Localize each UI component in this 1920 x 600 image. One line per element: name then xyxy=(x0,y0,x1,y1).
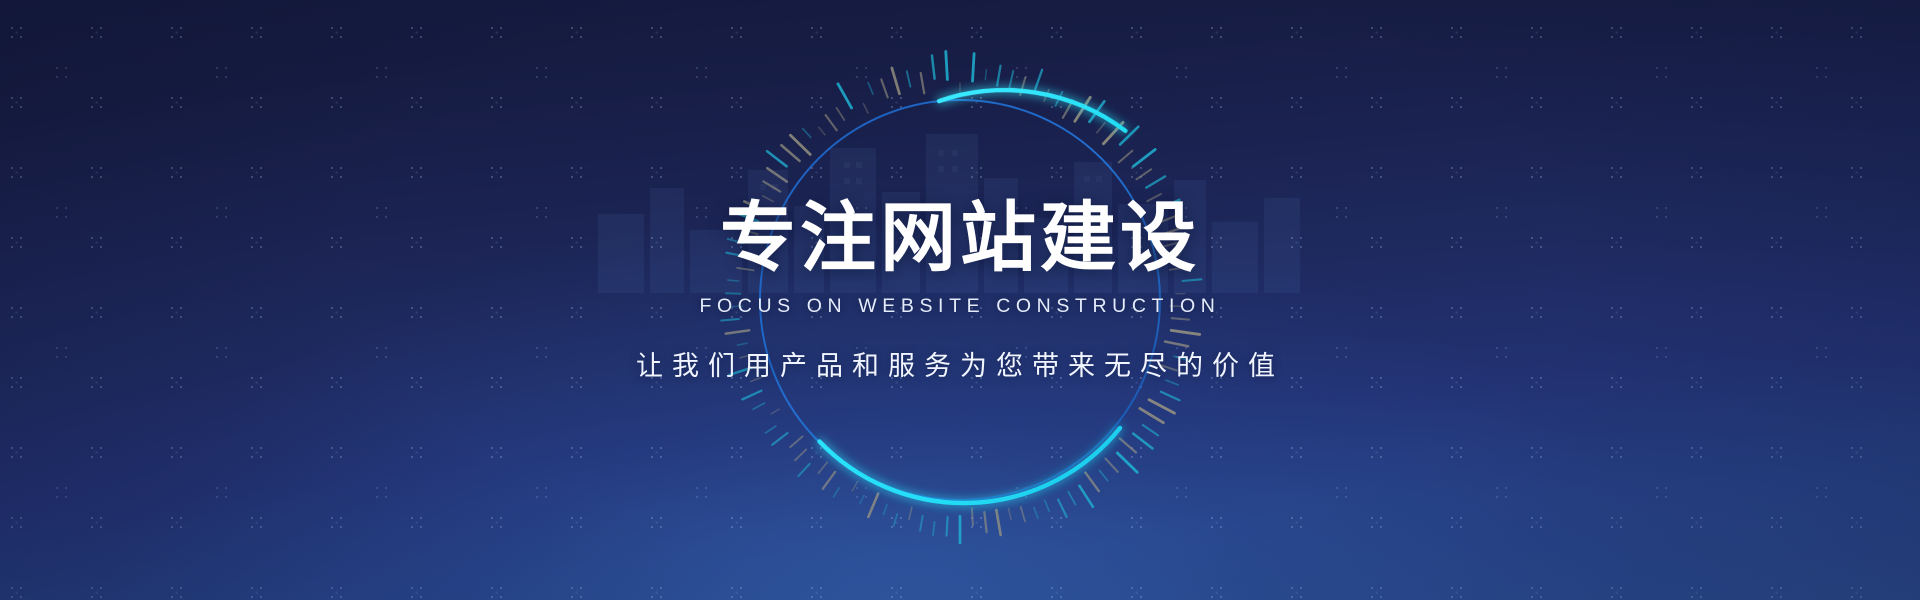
page-title: 专注网站建设 xyxy=(720,200,1200,276)
banner-subtitle-en: FOCUS ON WEBSITE CONSTRUCTION xyxy=(700,295,1221,318)
hero-banner: 专注网站建设 FOCUS ON WEBSITE CONSTRUCTION 让我们… xyxy=(0,0,1920,600)
banner-tagline-cn: 让我们用产品和服务为您带来无尽的价值 xyxy=(636,344,1284,383)
banner-content: 专注网站建设 FOCUS ON WEBSITE CONSTRUCTION 让我们… xyxy=(0,0,1920,600)
